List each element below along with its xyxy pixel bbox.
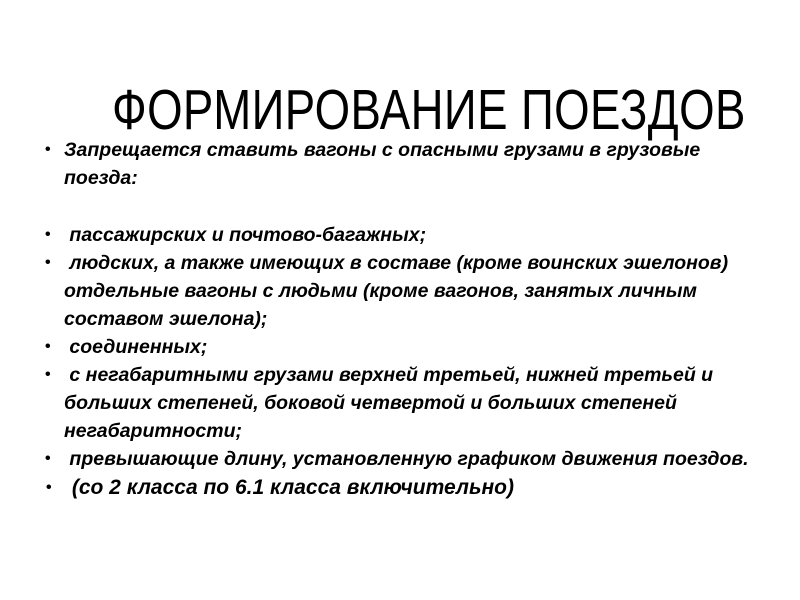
bullet-list: Запрещается ставить вагоны с опасными гр… [40,136,756,503]
list-item: пассажирских и почтово-багажных; [40,221,756,249]
list-item: (со 2 класса по 6.1 класса включительно) [40,473,756,503]
list-item: Запрещается ставить вагоны с опасными гр… [40,136,756,192]
list-item: соединенных; [40,333,756,361]
slide-canvas: ФОРМИРОВАНИЕ ПОЕЗДОВ Запрещается ставить… [0,0,800,600]
page-title: ФОРМИРОВАНИЕ ПОЕЗДОВ [112,80,688,140]
list-item: с негабаритными грузами верхней третьей,… [40,361,756,445]
list-item: людских, а также имеющих в составе (кром… [40,249,756,333]
list-item: превышающие длину, установленную графико… [40,445,756,473]
